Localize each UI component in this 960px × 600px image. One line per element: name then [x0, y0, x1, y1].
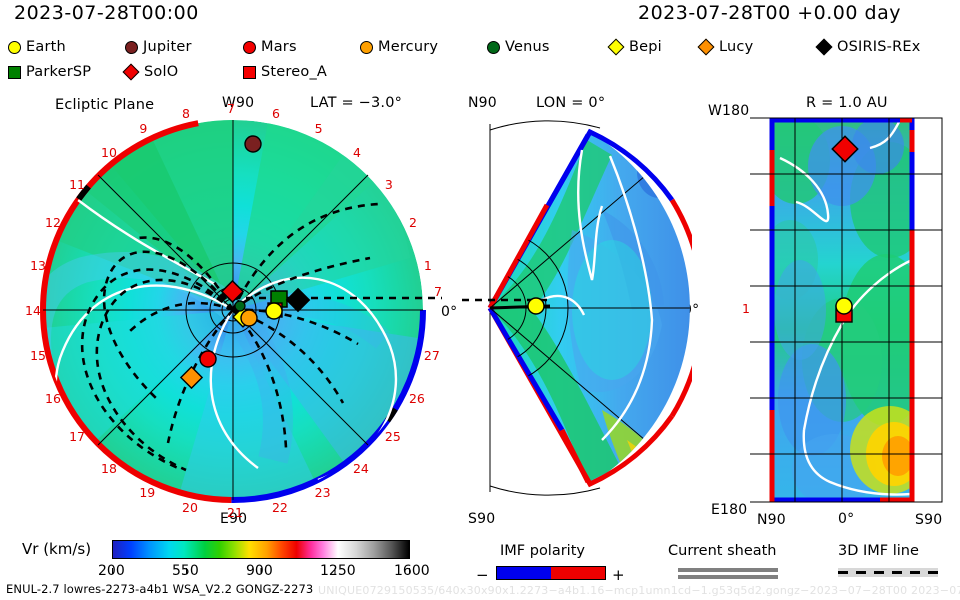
colorbar-tick-label: 1600 — [394, 563, 430, 579]
footer-watermark: UNIQUE0729150535/640x30x90x1.2273−a4b1.1… — [318, 585, 960, 596]
ecliptic-hour-label: 5 — [315, 121, 323, 136]
meridional-lon-label: LON = 0° — [536, 96, 605, 111]
colorbar-tick-label: 1250 — [320, 563, 356, 579]
meridional-edge-label: 7 — [434, 286, 442, 299]
meridional-bottom-axis-label: S90 — [468, 512, 495, 526]
date-title: 2023-07-28T00:00 — [14, 4, 199, 23]
colorbar-tick-label: 900 — [246, 563, 273, 579]
ecliptic-hour-label: 22 — [272, 500, 288, 515]
colorbar-tick-label: 550 — [172, 563, 199, 579]
ecliptic-hour-label: 6 — [272, 106, 280, 121]
legend-label: Venus — [505, 39, 550, 55]
ecliptic-hour-label: 26 — [409, 391, 425, 406]
sphere-x-axis-label-left: N90 — [757, 513, 786, 527]
legend-label: Earth — [26, 39, 66, 55]
lucy-marker-icon — [698, 39, 715, 56]
meridional-top-axis-label: N90 — [468, 96, 497, 110]
legend-item-mars: Mars — [243, 36, 297, 58]
legend-label: ParkerSP — [26, 64, 91, 80]
parkersp-marker-icon — [8, 66, 21, 79]
legend-label: Mercury — [378, 39, 438, 55]
frame-title: 2023-07-28T00 +0.00 day — [638, 4, 901, 23]
legend-label: Jupiter — [143, 39, 192, 55]
earth-marker-icon — [8, 41, 21, 54]
current-sheath-line-lower — [678, 575, 778, 579]
legend-item-bepi: Bepi — [610, 36, 662, 58]
ecliptic-hour-label: 3 — [385, 177, 393, 192]
marker-legend-row-2: ParkerSP SolO Stereo_A — [0, 61, 960, 83]
ecliptic-hour-label: 23 — [315, 485, 331, 500]
ecliptic-hour-label: 19 — [139, 485, 155, 500]
polarity-negative-swatch — [497, 567, 551, 579]
ecliptic-hour-label: 4 — [353, 145, 361, 160]
ecliptic-hour-label: 25 — [385, 429, 401, 444]
imf-polarity-plus: + — [612, 568, 625, 583]
ecliptic-hour-label: 20 — [182, 500, 198, 515]
legend-label: Bepi — [629, 39, 662, 55]
legend-item-solo: SolO — [125, 61, 178, 83]
imf-line-title: 3D IMF line — [838, 544, 919, 559]
colorbar-title: Vr (km/s) — [22, 542, 91, 557]
imf-polarity-minus: − — [476, 568, 489, 583]
legend-label: SolO — [144, 64, 178, 80]
mercury-marker-icon — [360, 41, 373, 54]
ecliptic-hour-label: 9 — [139, 121, 147, 136]
legend-item-osiris-rex: OSIRIS-REx — [818, 36, 921, 58]
osiris-rex-marker-icon — [816, 39, 833, 56]
legend-item-earth: Earth — [8, 36, 66, 58]
stereo-a-marker-icon — [243, 66, 256, 79]
legend-label: Lucy — [719, 39, 753, 55]
earth-marker[interactable] — [528, 298, 544, 314]
solo-marker-icon — [123, 64, 140, 81]
polarity-positive-swatch — [551, 567, 605, 579]
legend-item-venus: Venus — [487, 36, 550, 58]
sphere-1au-plot — [750, 110, 960, 510]
ecliptic-hour-label: 14 — [25, 303, 41, 318]
jupiter-marker-icon — [125, 41, 138, 54]
legend-label: Stereo_A — [261, 64, 327, 80]
ecliptic-hour-label: 18 — [101, 461, 117, 476]
ecliptic-hour-label: 2 — [409, 215, 417, 230]
ecliptic-hour-label: 8 — [182, 106, 190, 121]
venus-marker-icon — [487, 41, 500, 54]
footer-text: ENUL-2.7 lowres-2273-a4b1 WSA_V2.2 GONGZ… — [6, 584, 313, 596]
sphere-x-axis-label-center: 0° — [838, 512, 854, 526]
ecliptic-hour-label: 16 — [45, 391, 61, 406]
ecliptic-hour-label: 13 — [30, 258, 46, 273]
ecliptic-hour-label: 12 — [45, 215, 61, 230]
ecliptic-hour-label: 24 — [353, 461, 369, 476]
ecliptic-hour-labels: 0123456789101112131415161718192021222324… — [18, 108, 448, 512]
ecliptic-hour-label: 7 — [227, 101, 235, 116]
current-sheath-line-upper — [678, 568, 778, 572]
ecliptic-hour-label: 10 — [101, 145, 117, 160]
bepi-marker-icon — [608, 39, 625, 56]
legend-label: OSIRIS-REx — [837, 39, 921, 55]
sphere-top-left-axis-label: W180 — [708, 104, 749, 118]
ecliptic-hour-label: 15 — [30, 348, 46, 363]
sphere-y-center-label: 1 — [742, 303, 750, 316]
meridional-plane-plot — [452, 110, 692, 510]
ecliptic-hour-label: 27 — [424, 348, 440, 363]
colorbar-tick-label: 200 — [98, 563, 125, 579]
sphere-panel-title: R = 1.0 AU — [806, 96, 888, 111]
legend-item-stereo-a: Stereo_A — [243, 61, 327, 83]
mars-marker-icon — [243, 41, 256, 54]
sphere-x-axis-label-right: S90 — [915, 513, 942, 527]
earth-marker[interactable] — [836, 298, 852, 314]
legend-item-parkersp: ParkerSP — [8, 61, 91, 83]
velocity-colorbar — [112, 540, 410, 559]
sphere-bottom-left-axis-label: E180 — [711, 503, 747, 517]
imf-line-sample-dashes — [838, 571, 938, 574]
current-sheath-title: Current sheath — [668, 544, 777, 559]
imf-polarity-bar — [496, 566, 606, 580]
marker-legend-row-1: Earth Jupiter Mars Mercury Venus Bepi Lu… — [0, 36, 960, 58]
ecliptic-hour-label: 11 — [69, 177, 85, 192]
ecliptic-hour-label: 21 — [227, 505, 243, 520]
ecliptic-hour-label: 17 — [69, 429, 85, 444]
legend-item-mercury: Mercury — [360, 36, 438, 58]
legend-item-jupiter: Jupiter — [125, 36, 192, 58]
ecliptic-hour-label: 1 — [424, 258, 432, 273]
imf-polarity-title: IMF polarity — [500, 544, 585, 559]
legend-label: Mars — [261, 39, 297, 55]
legend-item-lucy: Lucy — [700, 36, 753, 58]
